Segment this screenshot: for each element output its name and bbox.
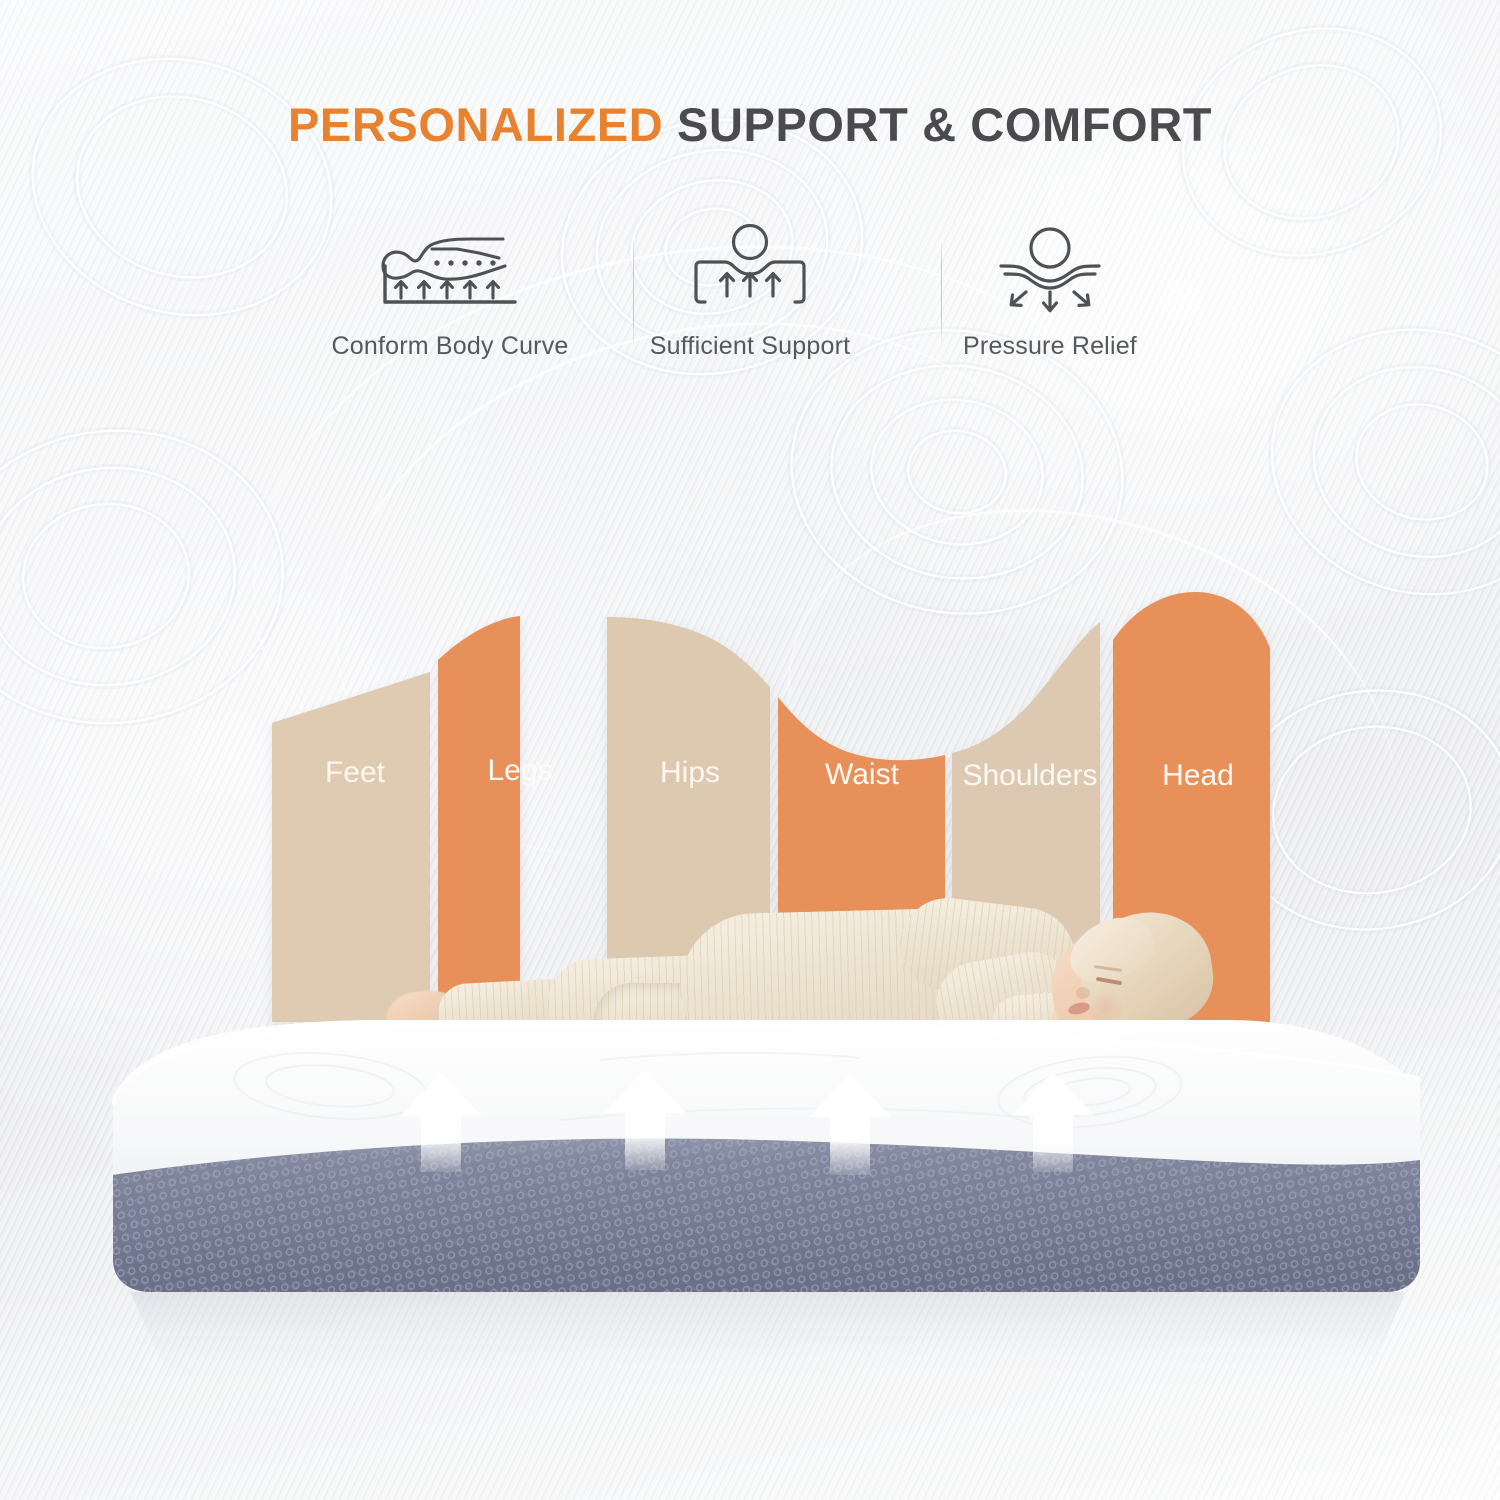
mattress-reflection [130, 1292, 1405, 1400]
mattress [0, 0, 1500, 1500]
infographic-canvas: PERSONALIZED SUPPORT & COMFORT [0, 0, 1500, 1500]
